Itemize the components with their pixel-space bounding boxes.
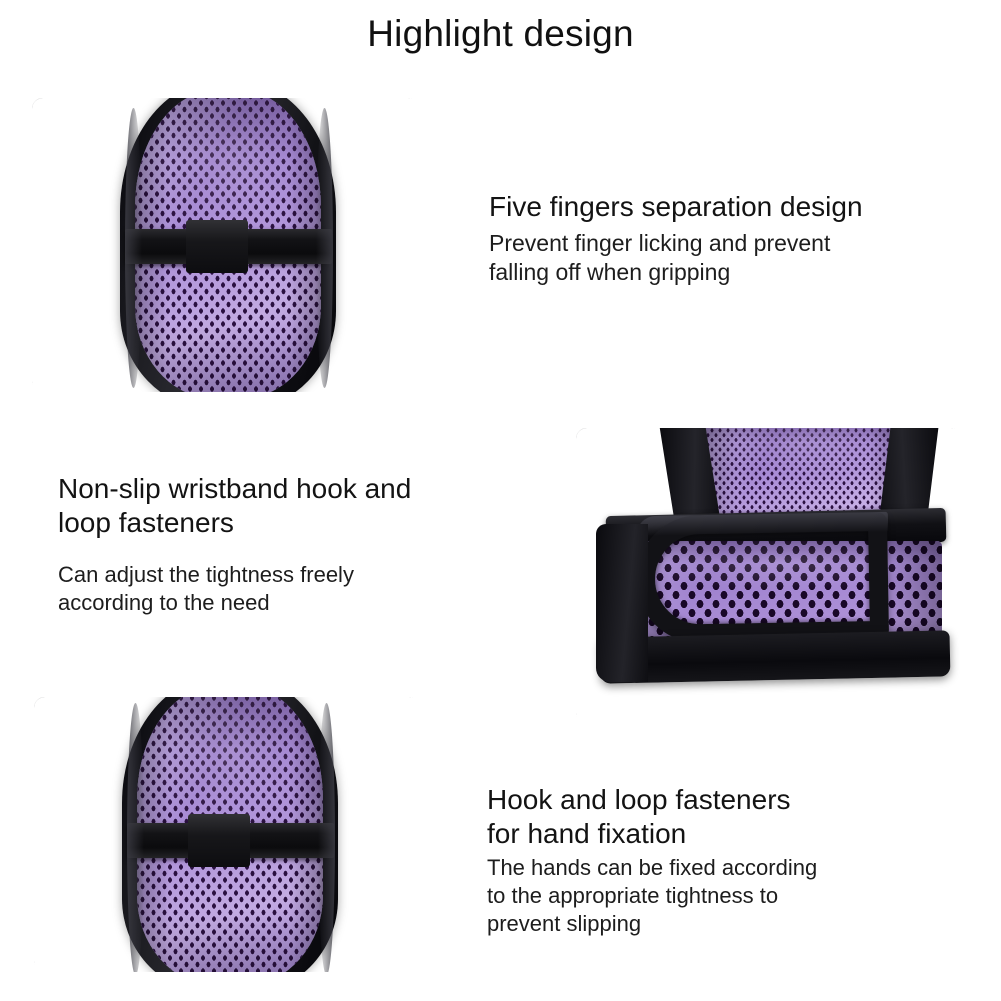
feature-subline-non-slip: Can adjust the tightness freely accordin… — [58, 561, 518, 616]
wristband-illustration — [576, 428, 962, 724]
feature-subline-hook-loop: The hands can be fixed according to the … — [487, 854, 957, 937]
feature-headline-non-slip: Non-slip wristband hook and loop fastene… — [58, 472, 518, 539]
glove-edge-left — [125, 108, 142, 388]
photo-wristband-closeup — [576, 428, 962, 724]
photo-palm-strap-bottom — [34, 697, 420, 972]
feature-text-hook-loop: Hook and loop fasteners for hand fixatio… — [487, 783, 957, 937]
glove-edge-right — [316, 108, 333, 388]
feature-headline-hook-loop: Hook and loop fasteners for hand fixatio… — [487, 783, 957, 850]
photo-palm-strap-top — [32, 98, 419, 392]
page-title: Highlight design — [0, 12, 1001, 56]
photo-frame-wristband-closeup — [576, 428, 961, 723]
glove-edge-right-2 — [318, 703, 335, 972]
feature-subline-five-fingers: Prevent finger licking and prevent falli… — [489, 229, 959, 287]
glove-illustration-bottom — [34, 697, 420, 972]
feature-text-non-slip: Non-slip wristband hook and loop fastene… — [58, 472, 518, 617]
wristband-left-corner — [596, 524, 648, 682]
photo-frame-palm-strap-top — [32, 98, 418, 391]
feature-text-five-fingers: Five fingers separation design Prevent f… — [489, 190, 959, 287]
photo-frame-palm-strap-bottom — [34, 697, 419, 971]
glove-palm-strap-bump-2 — [188, 814, 250, 867]
glove-illustration-top — [32, 98, 419, 392]
wristband-bottom-hem — [599, 630, 950, 683]
wristband-velcro-strap-highlight — [635, 511, 887, 535]
feature-headline-five-fingers: Five fingers separation design — [489, 190, 959, 224]
glove-edge-left-2 — [127, 703, 144, 972]
glove-palm-strap-bump — [186, 220, 248, 273]
